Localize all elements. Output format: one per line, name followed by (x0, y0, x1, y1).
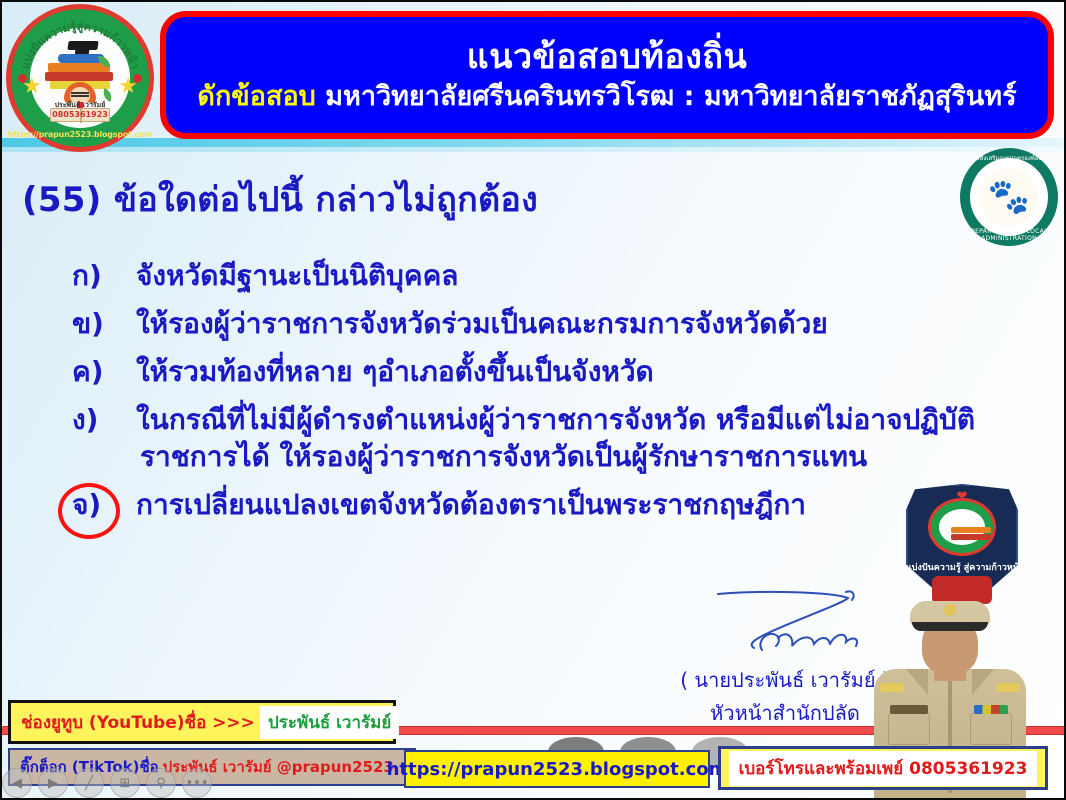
header-subtitle-rest: มหาวิทยาลัยศรีนครินทรวิโรฒ : มหาวิทยาลัย… (325, 81, 1016, 112)
logo-star-left: ★ (22, 76, 42, 98)
blog-url-banner[interactable]: https://prapun2523.blogspot.com (404, 750, 710, 788)
option-row-ngo[interactable]: ง) ในกรณีที่ไม่มีผู้ดำรงตำแหน่งผู้ว่าราช… (72, 402, 1012, 476)
lion-icon: 🐾 (988, 180, 1030, 214)
collar-left (906, 669, 928, 695)
shield-book-orange (951, 527, 991, 533)
header-subtitle-highlight: ดักข้อสอบ (197, 81, 315, 112)
graduation-cap-icon (67, 41, 98, 50)
option-key-ngo: ง) (72, 402, 136, 439)
next-icon[interactable]: ▶ (38, 768, 68, 798)
option-text-ka: จังหวัดมีฐานะเป็นนิติบุคคล (136, 258, 458, 295)
option-key-kho2: ค) (72, 354, 136, 391)
cap-visor (912, 622, 988, 631)
option-line2-ngo: ราชการได้ ให้รองผู้ว่าราชการจังหวัดเป็นผ… (140, 439, 975, 476)
option-key-cho-circled: จ) (72, 487, 136, 524)
header-banner: แนวข้อสอบท้องถิ่น ดักข้อสอบ มหาวิทยาลัยศ… (160, 11, 1054, 139)
slide-canvas: แนวข้อสอบท้องถิ่น ดักข้อสอบ มหาวิทยาลัยศ… (0, 0, 1066, 800)
phone-banner[interactable]: เบอร์โทรและพร้อมเพย์ 0805361923 (718, 746, 1048, 790)
dla-english-text: DEPARTMENT OF LOCAL ADMINISTRATION (960, 228, 1058, 242)
girl-glasses-icon (71, 92, 89, 97)
logo-star-right: ★ (118, 76, 138, 98)
option-key-ka: ก) (72, 258, 136, 295)
shirt-pocket-left (888, 713, 930, 745)
phone-text: เบอร์โทรและพร้อมเพย์ 0805361923 (729, 751, 1038, 786)
shield-logo-circle (928, 498, 996, 556)
pen-icon[interactable]: ╱ (74, 768, 104, 798)
option-text-cho: การเปลี่ยนแปลงเขตจังหวัดต้องตราเป็นพระรา… (136, 487, 806, 524)
collar-right (972, 669, 994, 695)
blog-url-text: https://prapun2523.blogspot.com (387, 759, 728, 780)
question-title: (55) ข้อใดต่อไปนี้ กล่าวไม่ถูกต้อง (22, 172, 538, 226)
youtube-banner[interactable]: ช่องยูทูบ (YouTube)ชื่อ >>> ประพันธ์ เวา… (8, 700, 396, 744)
epaulette-right (996, 683, 1020, 692)
cyan-stripe-lower (0, 147, 1066, 152)
book-red (45, 72, 113, 81)
option-line1-kho2: ให้รวมท้องที่หลาย ๆอำเภอตั้งขึ้นเป็นจังห… (136, 355, 654, 388)
option-line1-cho: การเปลี่ยนแปลงเขตจังหวัดต้องตราเป็นพระรา… (136, 488, 806, 521)
option-row-ka[interactable]: ก) จังหวัดมีฐานะเป็นนิติบุคคล (72, 258, 1012, 295)
header-title: แนวข้อสอบท้องถิ่น (467, 40, 747, 76)
youtube-channel-name: ประพันธ์ เวารัมย์ (260, 706, 399, 739)
book-orange (48, 63, 110, 72)
options-list: ก) จังหวัดมีฐานะเป็นนิติบุคคล ข) ให้รองผ… (72, 258, 1012, 535)
presenter-toolbar[interactable]: ◀ ▶ ╱ ⊞ ⚲ ••• (2, 768, 212, 798)
header-subtitle: ดักข้อสอบ มหาวิทยาลัยศรีนครินทรวิโรฒ : ม… (197, 83, 1016, 111)
cap-badge-icon (944, 604, 956, 616)
more-options-icon[interactable]: ••• (182, 768, 212, 798)
previous-icon[interactable]: ◀ (2, 768, 32, 798)
option-text-kho2: ให้รวมท้องที่หลาย ๆอำเภอตั้งขึ้นเป็นจังห… (136, 354, 654, 391)
option-line1-ngo: ในกรณีที่ไม่มีผู้ดำรงตำแหน่งผู้ว่าราชการ… (136, 403, 975, 436)
name-plate (890, 705, 928, 714)
option-row-cho[interactable]: จ) การเปลี่ยนแปลงเขตจังหวัดต้องตราเป็นพร… (72, 487, 1012, 524)
logo-phone: 0805361923 (6, 110, 154, 119)
shield-book-red (951, 534, 991, 540)
service-ribbon (974, 705, 1008, 714)
shield-logo-inner (939, 509, 985, 545)
logo-url: https://prapun2523.blogspot.com (6, 130, 154, 139)
shield-motto: แบ่งปันความรู้ สู่ความก้าวหน้า (906, 560, 1018, 574)
option-key-kho: ข) (72, 306, 136, 343)
option-line1-kho: ให้รองผู้ว่าราชการจังหวัดร่วมเป็นคณะกรมก… (136, 307, 828, 340)
dla-core: 🐾 (980, 168, 1038, 226)
option-line1-ka: จังหวัดมีฐานะเป็นนิติบุคคล (136, 259, 458, 292)
epaulette-left (880, 683, 904, 692)
dla-thai-text: กรมส่งเสริมการปกครองท้องถิ่น (960, 153, 1058, 163)
shirt-pocket-right (970, 713, 1012, 745)
knowledge-logo: แบ่งปันความรู้สู่ความก้าวหน้า ★ ★ ประพัน… (6, 4, 154, 152)
option-text-kho: ให้รองผู้ว่าราชการจังหวัดร่วมเป็นคณะกรมก… (136, 306, 828, 343)
option-row-kho[interactable]: ข) ให้รองผู้ว่าราชการจังหวัดร่วมเป็นคณะก… (72, 306, 1012, 343)
option-text-ngo: ในกรณีที่ไม่มีผู้ดำรงตำแหน่งผู้ว่าราชการ… (136, 402, 975, 476)
option-row-kho2[interactable]: ค) ให้รวมท้องที่หลาย ๆอำเภอตั้งขึ้นเป็นจ… (72, 354, 1012, 391)
youtube-label: ช่องยูทูบ (YouTube)ชื่อ >>> (21, 709, 255, 736)
cyan-stripe-upper (0, 138, 1066, 147)
zoom-icon[interactable]: ⚲ (146, 768, 176, 798)
dla-emblem: 🐾 กรมส่งเสริมการปกครองท้องถิ่น DEPARTMEN… (960, 148, 1058, 246)
grid-icon[interactable]: ⊞ (110, 768, 140, 798)
